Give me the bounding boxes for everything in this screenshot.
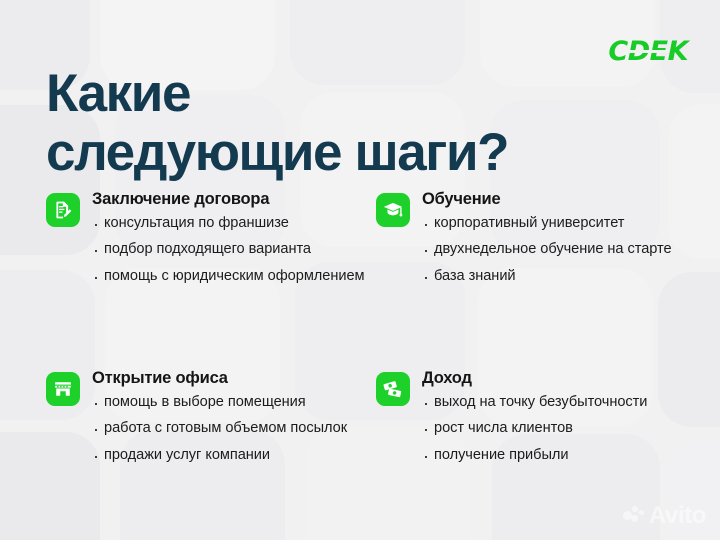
poster-root: CDEK Какие следующие шаги? Заключение до… — [0, 0, 720, 540]
step-bullet-list: помощь в выборе помещения работа с готов… — [92, 394, 376, 465]
step-title: Открытие офиса — [92, 369, 376, 388]
step-block-education: Обучение корпоративный университет двухн… — [376, 190, 686, 365]
storefront-icon — [46, 372, 80, 406]
list-item: работа с готовым объемом посылок — [92, 420, 376, 438]
list-item: продажи услуг компании — [92, 447, 376, 465]
steps-grid: Заключение договора консультация по фран… — [46, 190, 686, 464]
list-item: получение прибыли — [422, 447, 686, 465]
step-block-income: Доход выход на точку безубыточности рост… — [376, 369, 686, 464]
step-bullet-list: консультация по франшизе подбор подходящ… — [92, 215, 376, 286]
step-bullet-list: выход на точку безубыточности рост числа… — [422, 394, 686, 465]
logo-text-part-2: DE — [628, 38, 668, 65]
list-item: подбор подходящего варианта — [92, 241, 376, 259]
list-item: корпоративный университет — [422, 215, 686, 233]
page-title: Какие следующие шаги? — [46, 64, 686, 184]
step-body: Заключение договора консультация по фран… — [92, 190, 376, 285]
banknotes-icon — [376, 372, 410, 406]
logo-text-part-1: C — [608, 36, 627, 67]
list-item: помощь с юридическим оформлением — [92, 268, 376, 286]
list-item: помощь в выборе помещения — [92, 394, 376, 412]
step-block-office: Открытие офиса помощь в выборе помещения… — [46, 369, 376, 464]
logo-text-part-3: K — [668, 36, 688, 67]
list-item: консультация по франшизе — [92, 215, 376, 233]
step-title: Заключение договора — [92, 190, 376, 209]
avito-watermark-text: Avito — [649, 504, 706, 528]
avito-logo-icon — [623, 506, 645, 526]
step-block-contract: Заключение договора консультация по фран… — [46, 190, 376, 365]
page-title-line-1: Какие — [46, 64, 686, 124]
step-bullet-list: корпоративный университет двухнедельное … — [422, 215, 686, 286]
step-title: Доход — [422, 369, 686, 388]
step-body: Открытие офиса помощь в выборе помещения… — [92, 369, 376, 464]
page-title-line-2: следующие шаги? — [46, 123, 686, 183]
step-title: Обучение — [422, 190, 686, 209]
step-body: Доход выход на точку безубыточности рост… — [422, 369, 686, 464]
list-item: база знаний — [422, 268, 686, 286]
document-pencil-icon — [46, 193, 80, 227]
step-body: Обучение корпоративный университет двухн… — [422, 190, 686, 285]
list-item: рост числа клиентов — [422, 420, 686, 438]
graduation-cap-icon — [376, 193, 410, 227]
cdek-logo: CDEK — [608, 38, 688, 65]
list-item: двухнедельное обучение на старте — [422, 241, 686, 259]
list-item: выход на точку безубыточности — [422, 394, 686, 412]
avito-watermark: Avito — [623, 504, 706, 528]
